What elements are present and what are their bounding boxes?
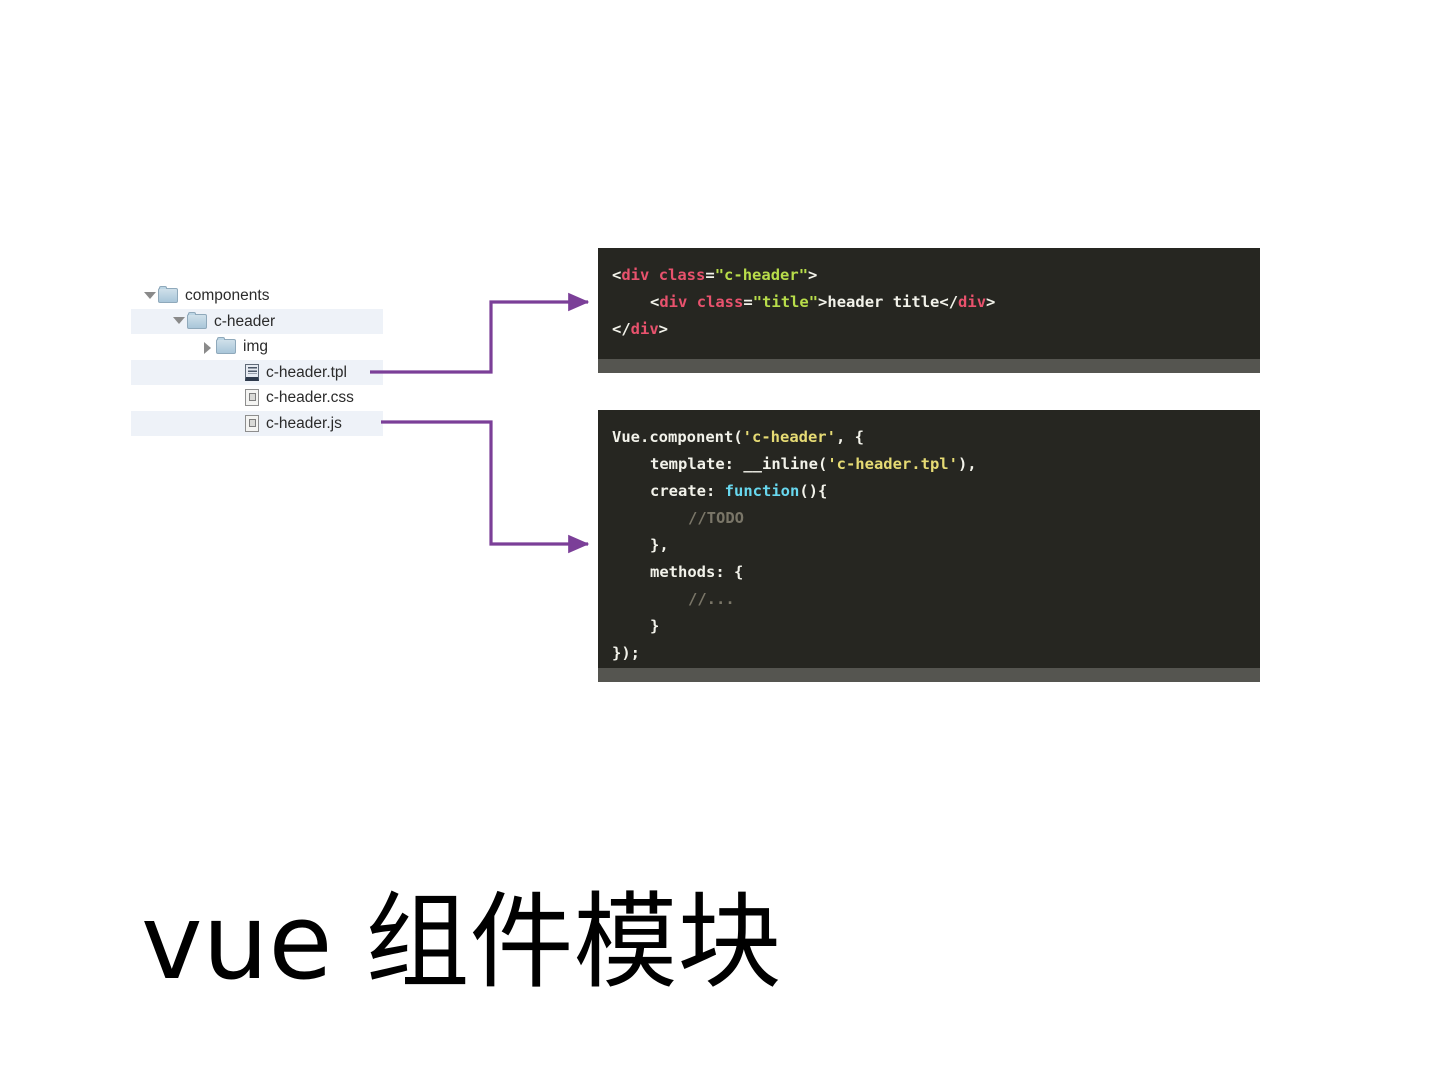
code-token: </ [612, 320, 631, 338]
code-line: <div class="c-header"> [612, 262, 1246, 289]
code-token: div [958, 293, 986, 311]
twisty-spacer [230, 417, 242, 429]
code-token: //TODO [688, 509, 744, 527]
slide-title: vue 组件模块 [141, 885, 782, 999]
tree-row-label: c-header.js [266, 416, 342, 432]
code-token: class [659, 266, 706, 284]
chevron-down-icon[interactable] [143, 290, 155, 302]
tree-row-label: components [185, 288, 269, 304]
tree-row-c-header.css[interactable]: c-header.css [131, 385, 383, 411]
code-token: = [705, 266, 714, 284]
code-token: div [659, 293, 687, 311]
code-line: </div> [612, 316, 1246, 343]
chevron-down-icon[interactable] [172, 315, 184, 327]
code-token: ), [958, 455, 977, 473]
tree-row-label: img [243, 339, 268, 355]
folder-icon [187, 314, 207, 329]
tree-row-c-header[interactable]: c-header [131, 309, 383, 335]
code-token: header title [827, 293, 939, 311]
code-token: "c-header" [715, 266, 808, 284]
code-token: = [743, 293, 752, 311]
folder-icon [216, 339, 236, 354]
code-line: } [612, 613, 1246, 640]
code-token: div [631, 320, 659, 338]
folder-icon [158, 288, 178, 303]
code-token: </ [939, 293, 958, 311]
js-code-body: Vue.component('c-header', {template: __i… [598, 410, 1260, 677]
code-line: create: function(){ [612, 478, 1246, 505]
code-token: 'c-header.tpl' [827, 455, 958, 473]
tpl-to-html-connector [370, 302, 588, 372]
code-token: class [697, 293, 744, 311]
code-line: }, [612, 532, 1246, 559]
chevron-right-icon[interactable] [201, 341, 213, 353]
code-token: > [659, 320, 668, 338]
file-tree[interactable]: componentsc-headerimgc-header.tplc-heade… [131, 283, 383, 436]
code-line: //... [612, 586, 1246, 613]
code-token: }); [612, 644, 640, 662]
document-file-icon [245, 389, 259, 406]
tree-row-label: c-header [214, 314, 275, 330]
code-token [649, 266, 658, 284]
code-token: } [650, 617, 659, 635]
code-line: Vue.component('c-header', { [612, 424, 1246, 451]
twisty-spacer [230, 392, 242, 404]
code-token: < [650, 293, 659, 311]
code-token: function [725, 482, 800, 500]
code-token: 'c-header' [743, 428, 836, 446]
tree-row-img[interactable]: img [131, 334, 383, 360]
html-template-code-block: <div class="c-header"><div class="title"… [598, 248, 1260, 373]
tree-row-components[interactable]: components [131, 283, 383, 309]
html-code-body: <div class="c-header"><div class="title"… [598, 248, 1260, 353]
code-token: , { [836, 428, 864, 446]
code-line: }); [612, 640, 1246, 667]
tree-row-label: c-header.tpl [266, 365, 347, 381]
tree-row-c-header.tpl[interactable]: c-header.tpl [131, 360, 383, 386]
js-to-javascript-connector [381, 422, 588, 544]
tree-row-label: c-header.css [266, 390, 354, 406]
code-token: > [986, 293, 995, 311]
code-token: //... [688, 590, 735, 608]
code-line: <div class="title">header title</div> [612, 289, 1246, 316]
code-token: Vue.component( [612, 428, 743, 446]
code-token: }, [650, 536, 669, 554]
document-file-icon [245, 415, 259, 432]
code-token: "title" [753, 293, 818, 311]
code-token: > [818, 293, 827, 311]
code-token: methods: { [650, 563, 743, 581]
code-token: create: [650, 482, 725, 500]
code-token: template: __inline( [650, 455, 827, 473]
tree-row-c-header.js[interactable]: c-header.js [131, 411, 383, 437]
code-token: > [808, 266, 817, 284]
twisty-spacer [230, 366, 242, 378]
code-line: //TODO [612, 505, 1246, 532]
code-token: div [621, 266, 649, 284]
template-file-icon [245, 364, 259, 381]
js-code-scrollbar[interactable] [598, 668, 1260, 682]
code-line: methods: { [612, 559, 1246, 586]
html-code-scrollbar[interactable] [598, 359, 1260, 373]
code-token: < [612, 266, 621, 284]
code-line: template: __inline('c-header.tpl'), [612, 451, 1246, 478]
javascript-component-code-block: Vue.component('c-header', {template: __i… [598, 410, 1260, 682]
code-token: (){ [799, 482, 827, 500]
code-token [687, 293, 696, 311]
